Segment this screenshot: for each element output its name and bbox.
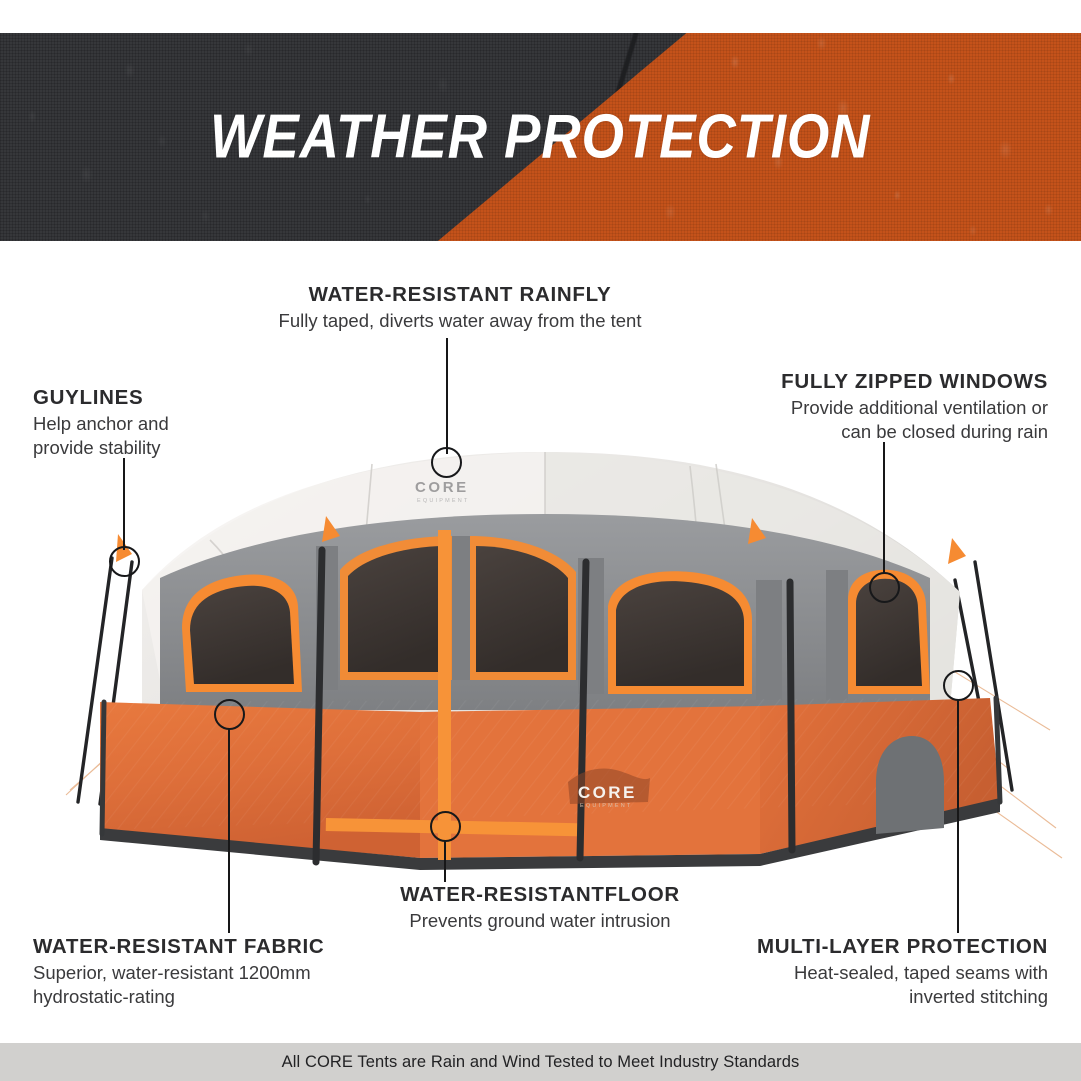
marker-multilayer xyxy=(943,670,974,701)
brand-logo-body-sub: EQUIPMENT xyxy=(580,803,633,809)
brand-logo-rainfly-text: CORE xyxy=(415,479,469,496)
marker-floor xyxy=(430,811,461,842)
callout-guylines: GUYLINES Help anchor and provide stabili… xyxy=(33,386,293,460)
footer-bar: All CORE Tents are Rain and Wind Tested … xyxy=(0,1043,1081,1081)
callout-fully-zipped-windows: FULLY ZIPPED WINDOWS Provide additional … xyxy=(630,370,1048,444)
callout-multi-layer-protection: MULTI-LAYER PROTECTION Heat-sealed, tape… xyxy=(640,935,1048,1009)
leader-line-guylines xyxy=(123,458,125,550)
leader-line-floor xyxy=(444,840,446,882)
callout-title: WATER-RESISTANTFLOOR xyxy=(330,883,750,907)
tent-illustration: CORE EQUIPMENT xyxy=(0,430,1081,900)
marker-rainfly xyxy=(431,447,462,478)
callout-desc-line: Heat-sealed, taped seams with xyxy=(640,961,1048,985)
brand-logo-rainfly: CORE EQUIPMENT xyxy=(415,479,470,504)
callout-desc-line: provide stability xyxy=(33,436,293,460)
leader-line-rainfly xyxy=(446,338,448,454)
header-banner: WEATHER PROTECTION xyxy=(0,33,1081,241)
callout-water-resistant-fabric: WATER-RESISTANT FABRIC Superior, water-r… xyxy=(33,935,453,1009)
marker-windows xyxy=(869,572,900,603)
marker-guylines xyxy=(109,546,140,577)
footer-text: All CORE Tents are Rain and Wind Tested … xyxy=(282,1053,800,1072)
callout-title: WATER-RESISTANT RAINFLY xyxy=(185,283,735,307)
callout-desc-line: inverted stitching xyxy=(640,985,1048,1009)
callout-desc-line: Prevents ground water intrusion xyxy=(330,909,750,933)
leader-line-multilayer xyxy=(957,700,959,933)
callout-desc-line: Superior, water-resistant 1200mm xyxy=(33,961,453,985)
callout-desc-line: can be closed during rain xyxy=(630,420,1048,444)
leader-line-windows xyxy=(883,442,885,574)
callout-title: WATER-RESISTANT FABRIC xyxy=(33,935,453,959)
callout-desc-line: Help anchor and xyxy=(33,412,293,436)
callout-title: GUYLINES xyxy=(33,386,293,410)
callout-desc-line: Fully taped, diverts water away from the… xyxy=(185,309,735,333)
rear-vestibule xyxy=(876,736,944,834)
leader-line-fabric xyxy=(228,728,230,933)
page-title-text: WEATHER PROTECTION xyxy=(210,102,870,173)
window-left xyxy=(182,574,302,692)
callout-desc-line: hydrostatic-rating xyxy=(33,985,453,1009)
window-center-left xyxy=(340,536,452,680)
window-right-center xyxy=(608,571,752,694)
page-title: WEATHER PROTECTION xyxy=(0,102,1081,173)
brand-logo-body-text: CORE xyxy=(578,783,637,802)
callout-desc-line: Provide additional ventilation or xyxy=(630,396,1048,420)
brand-logo-rainfly-sub: EQUIPMENT xyxy=(417,498,470,504)
callout-title: FULLY ZIPPED WINDOWS xyxy=(630,370,1048,394)
callout-water-resistant-floor: WATER-RESISTANTFLOOR Prevents ground wat… xyxy=(330,883,750,933)
marker-fabric xyxy=(214,699,245,730)
callout-water-resistant-rainfly: WATER-RESISTANT RAINFLY Fully taped, div… xyxy=(185,283,735,333)
callout-title: MULTI-LAYER PROTECTION xyxy=(640,935,1048,959)
